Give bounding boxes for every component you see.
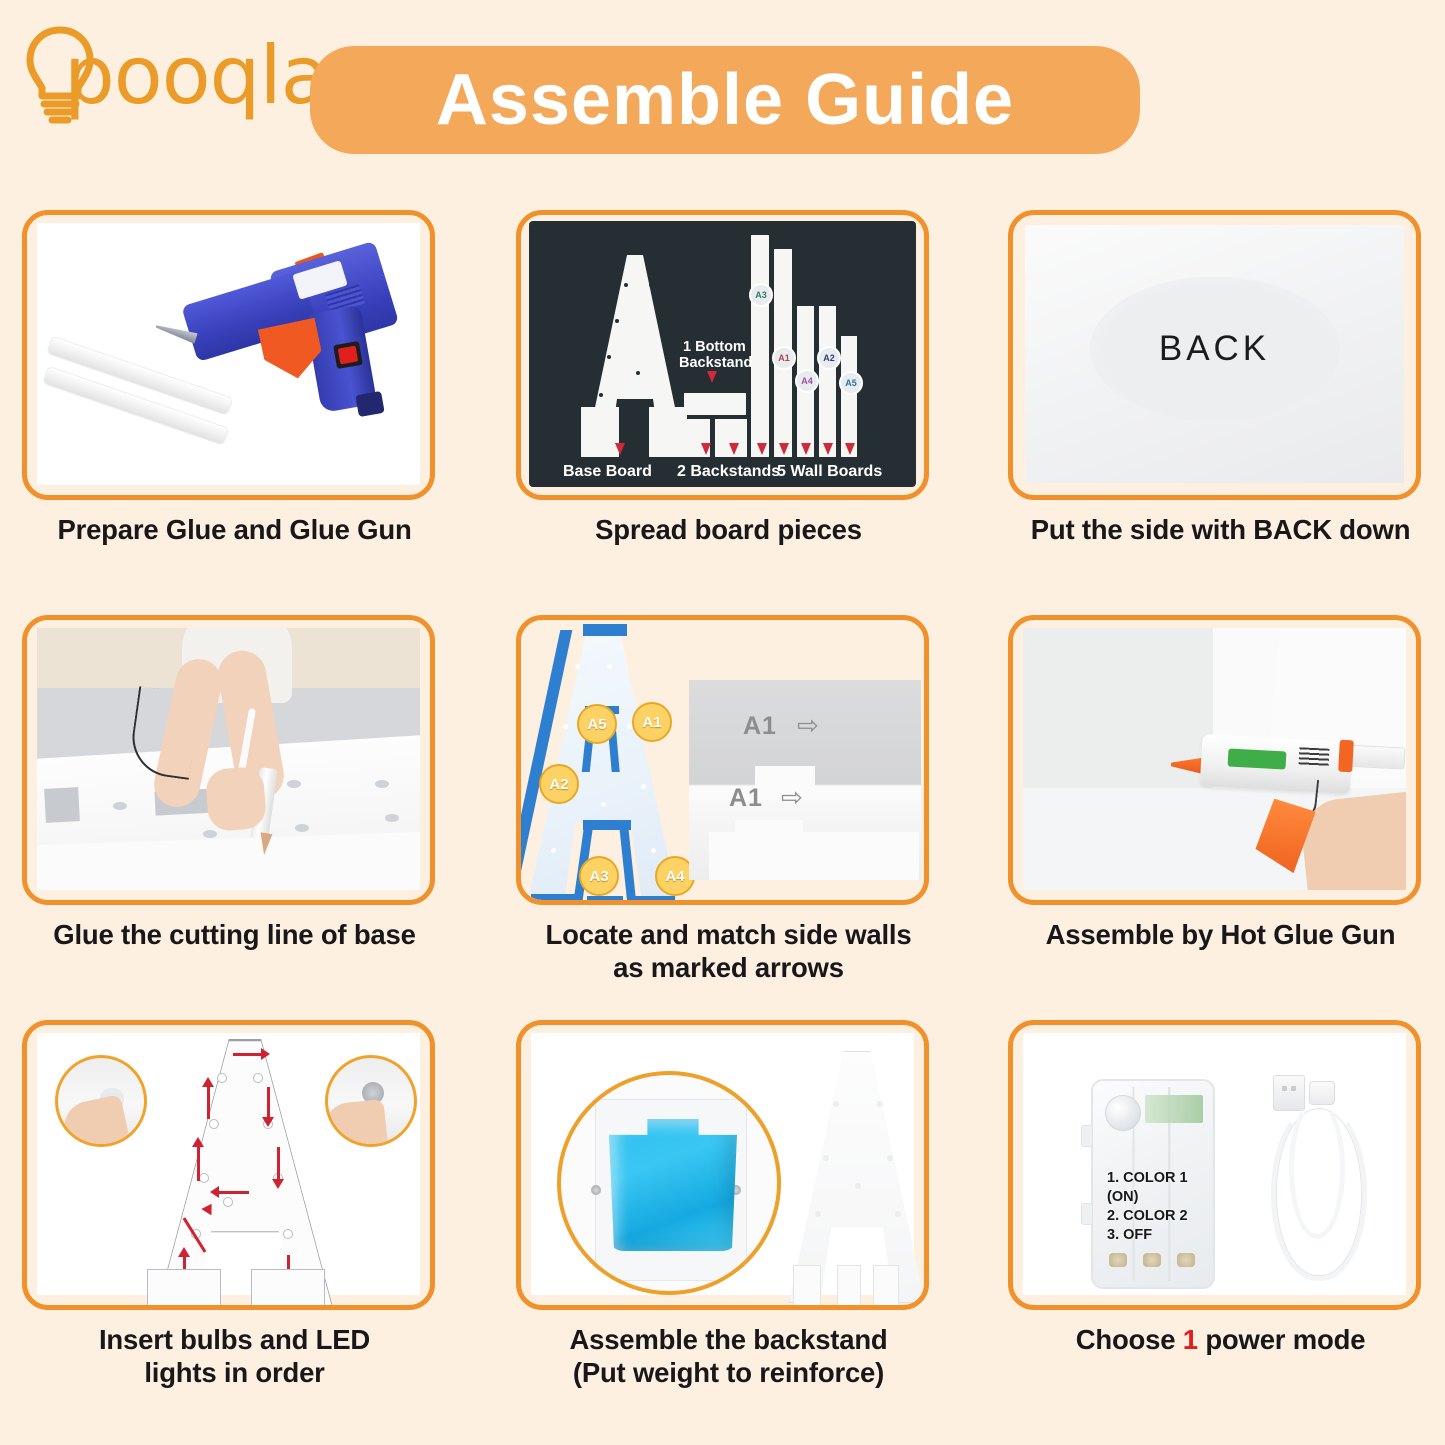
step-image-6 xyxy=(1008,615,1421,905)
caption-line: Insert bulbs and LED xyxy=(22,1323,447,1356)
page-title-banner: Assemble Guide xyxy=(310,46,1140,154)
board-diagram: A3 A1 A4 A2 A5 1 Bottom xyxy=(529,221,916,487)
hot-glue-gun-vents xyxy=(1299,747,1330,767)
caption-part: Choose xyxy=(1076,1324,1183,1355)
step-card-4: Glue the cutting line of base xyxy=(22,615,447,951)
caption-line: Assemble by Hot Glue Gun xyxy=(1008,918,1433,951)
step-image-9: 1. COLOR 1 (ON) 2. COLOR 2 3. OFF xyxy=(1008,1020,1421,1310)
wall-match-photo: A1 ⇨ A1 ⇨ xyxy=(689,680,921,880)
caption-line: Put the side with BACK down xyxy=(1008,513,1433,546)
step-image-3: BACK xyxy=(1008,210,1421,500)
arrow-right-icon: ⇨ xyxy=(797,710,819,741)
wall-boards-label: 5 Wall Boards xyxy=(777,463,882,481)
bottom-backstand-label-2: Backstand xyxy=(679,355,752,371)
hand xyxy=(205,766,267,832)
step-image-1 xyxy=(22,210,435,500)
step-caption-7: Insert bulbs and LED lights in order xyxy=(22,1323,447,1389)
wall-badge-a5: A5 xyxy=(577,704,617,744)
caption-line: lights in order xyxy=(22,1356,447,1389)
letter-a-bulb-order xyxy=(155,1039,335,1305)
step-caption-9: Choose 1 power mode xyxy=(1008,1323,1433,1356)
battery-box: 1. COLOR 1 (ON) 2. COLOR 2 3. OFF xyxy=(1091,1079,1215,1289)
brand-logo: pooqla xyxy=(22,18,292,138)
step-caption-4: Glue the cutting line of base xyxy=(22,918,447,951)
power-mode-1: 1. COLOR 1 (ON) xyxy=(1107,1169,1213,1207)
bottom-backstand xyxy=(684,393,746,415)
back-label: BACK xyxy=(1159,329,1270,369)
caption-highlight: 1 xyxy=(1183,1324,1198,1355)
step-card-2: A3 A1 A4 A2 A5 1 Bottom xyxy=(516,210,941,546)
brand-name: pooqla xyxy=(64,28,329,124)
assembled-letter-a xyxy=(789,1051,924,1303)
backstands-label: 2 Backstands xyxy=(677,463,780,481)
board-badge-a4: A4 xyxy=(795,369,819,393)
glue-gun-cap xyxy=(355,391,384,417)
step-caption-6: Assemble by Hot Glue Gun xyxy=(1008,918,1433,951)
caption-line: Choose 1 power mode xyxy=(1008,1323,1433,1356)
board-badge-a3: A3 xyxy=(749,283,773,307)
step-card-6: Assemble by Hot Glue Gun xyxy=(1008,615,1433,951)
step-image-2: A3 A1 A4 A2 A5 1 Bottom xyxy=(516,210,929,500)
caption-line: Assemble the backstand xyxy=(516,1323,941,1356)
power-button[interactable] xyxy=(1105,1095,1141,1131)
wall-board-a2 xyxy=(819,306,836,457)
weight-bag-closeup xyxy=(557,1071,781,1295)
power-mode-list: 1. COLOR 1 (ON) 2. COLOR 2 3. OFF xyxy=(1107,1169,1213,1245)
step-image-8 xyxy=(516,1020,929,1310)
wall-board-a5 xyxy=(841,336,857,457)
caption-line: Spread board pieces xyxy=(516,513,941,546)
wall-board-a3 xyxy=(751,235,769,457)
board-badge-a5: A5 xyxy=(839,371,863,395)
wall-badge-a2: A2 xyxy=(539,764,579,804)
usb-connector xyxy=(1273,1075,1305,1111)
step-image-7 xyxy=(22,1020,435,1310)
water-weight-bag xyxy=(609,1119,737,1251)
step-caption-8: Assemble the backstand (Put weight to re… xyxy=(516,1323,941,1389)
caption-line: (Put weight to reinforce) xyxy=(516,1356,941,1389)
arrow-right-icon: ⇨ xyxy=(781,782,803,813)
bulb-insert-closeup-left xyxy=(55,1055,147,1147)
page-header: pooqla Assemble Guide xyxy=(0,0,1445,185)
bottom-backstand-label-1: 1 Bottom xyxy=(683,339,746,355)
step-card-8: Assemble the backstand (Put weight to re… xyxy=(516,1020,941,1389)
hot-glue-gun-label xyxy=(1228,748,1287,769)
power-mode-3: 3. OFF xyxy=(1107,1226,1213,1245)
caption-line: Glue the cutting line of base xyxy=(22,918,447,951)
step-card-3: BACK Put the side with BACK down xyxy=(1008,210,1433,546)
step-card-1: Prepare Glue and Glue Gun xyxy=(22,210,447,546)
page-title: Assemble Guide xyxy=(436,64,1014,136)
power-mode-2: 2. COLOR 2 xyxy=(1107,1207,1213,1226)
caption-part: power mode xyxy=(1198,1324,1365,1355)
glue-gun-switch xyxy=(333,341,363,369)
letter-a-marked: A5 A1 A2 A3 A4 xyxy=(527,624,679,900)
back-board: BACK xyxy=(1025,225,1404,483)
step-card-9: 1. COLOR 1 (ON) 2. COLOR 2 3. OFF xyxy=(1008,1020,1433,1356)
board-left xyxy=(1023,628,1213,808)
wall-mark-a1-bottom: A1 xyxy=(729,784,763,813)
step-card-5: A5 A1 A2 A3 A4 A1 ⇨ A1 ⇨ xyxy=(516,615,941,984)
step-image-4 xyxy=(22,615,435,905)
caption-line: Locate and match side walls xyxy=(516,918,941,951)
wall-badge-a1: A1 xyxy=(632,702,672,742)
bulb-insert-closeup-right xyxy=(325,1055,417,1147)
board-badge-a1: A1 xyxy=(772,346,796,370)
step-caption-5: Locate and match side walls as marked ar… xyxy=(516,918,941,984)
step-image-5: A5 A1 A2 A3 A4 A1 ⇨ A1 ⇨ xyxy=(516,615,929,905)
caption-line: Prepare Glue and Glue Gun xyxy=(22,513,447,546)
step-caption-2: Spread board pieces xyxy=(516,513,941,546)
step-caption-1: Prepare Glue and Glue Gun xyxy=(22,513,447,546)
board-badge-a2: A2 xyxy=(817,346,841,370)
step-caption-3: Put the side with BACK down xyxy=(1008,513,1433,546)
wall-badge-a3: A3 xyxy=(579,856,619,896)
step-card-7: Insert bulbs and LED lights in order xyxy=(22,1020,447,1389)
caption-line: as marked arrows xyxy=(516,951,941,984)
glue-stick xyxy=(1344,744,1405,769)
base-board-label: Base Board xyxy=(563,463,652,481)
wall-mark-a1-top: A1 xyxy=(743,712,777,741)
